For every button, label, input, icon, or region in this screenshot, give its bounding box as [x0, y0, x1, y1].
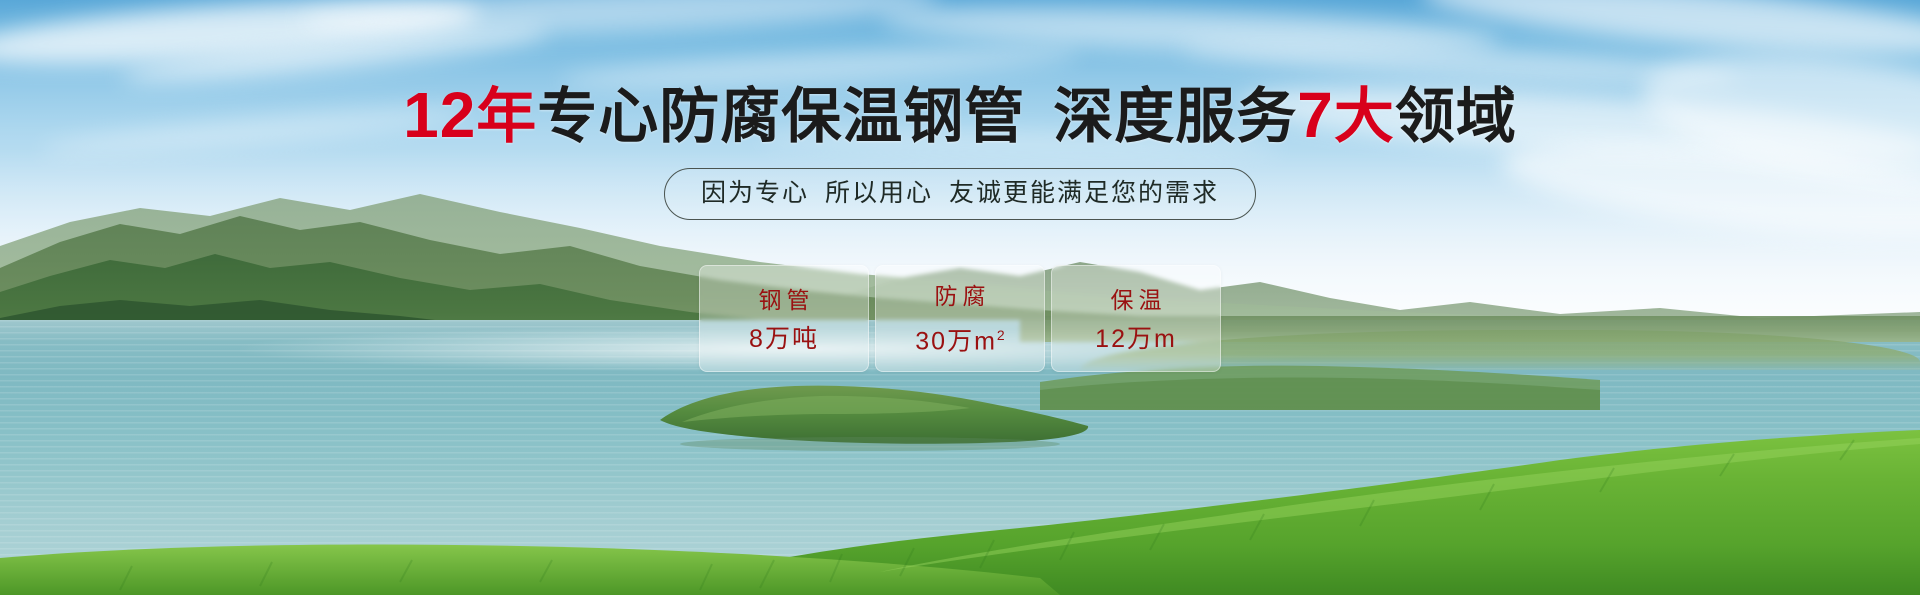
stat-card-value-text: 8万吨 [749, 325, 819, 353]
stat-card-anticorrosion: 防腐 30万m2 [875, 265, 1045, 372]
headline-service-text: 深度服务 [1053, 83, 1297, 150]
subtitle-part-1: 因为专心 [701, 179, 809, 207]
headline-fields-number: 7 [1297, 79, 1334, 151]
headline-fields-unit: 大 [1334, 83, 1395, 150]
page-title: 12年专心防腐保温钢管深度服务7大领域 [0, 84, 1920, 148]
stat-card-value-exponent: 2 [997, 327, 1005, 343]
subtitle-wrapper: 因为专心所以用心友诚更能满足您的需求 [0, 168, 1920, 220]
stat-card-value: 12万m [1095, 325, 1177, 353]
headline-lead-text: 专心防腐保温钢管 [537, 83, 1025, 150]
stat-card-title: 保温 [1106, 285, 1167, 315]
stat-card-insulation: 保温 12万m [1051, 265, 1221, 372]
stat-card-value-text: 12万m [1095, 325, 1177, 353]
stat-card-value: 8万吨 [749, 325, 819, 353]
stat-card-title: 防腐 [930, 281, 991, 311]
stat-card-value-text: 30万m [915, 328, 997, 356]
subtitle-part-3: 友诚更能满足您的需求 [949, 179, 1219, 207]
subtitle-part-2: 所以用心 [825, 179, 933, 207]
stat-card-title: 钢管 [754, 285, 815, 315]
subtitle-pill: 因为专心所以用心友诚更能满足您的需求 [664, 168, 1256, 220]
stat-card-steel-pipe: 钢管 8万吨 [699, 265, 869, 372]
stat-card-list: 钢管 8万吨 防腐 30万m2 保温 12万m [0, 265, 1920, 372]
banner-content: 12年专心防腐保温钢管深度服务7大领域 因为专心所以用心友诚更能满足您的需求 钢… [0, 0, 1920, 595]
hero-banner: 12年专心防腐保温钢管深度服务7大领域 因为专心所以用心友诚更能满足您的需求 钢… [0, 0, 1920, 595]
headline-years-unit: 年 [476, 83, 537, 150]
headline-fields-text: 领域 [1395, 83, 1517, 150]
stat-card-value: 30万m2 [915, 321, 1004, 355]
headline-years-number: 12 [403, 79, 476, 151]
